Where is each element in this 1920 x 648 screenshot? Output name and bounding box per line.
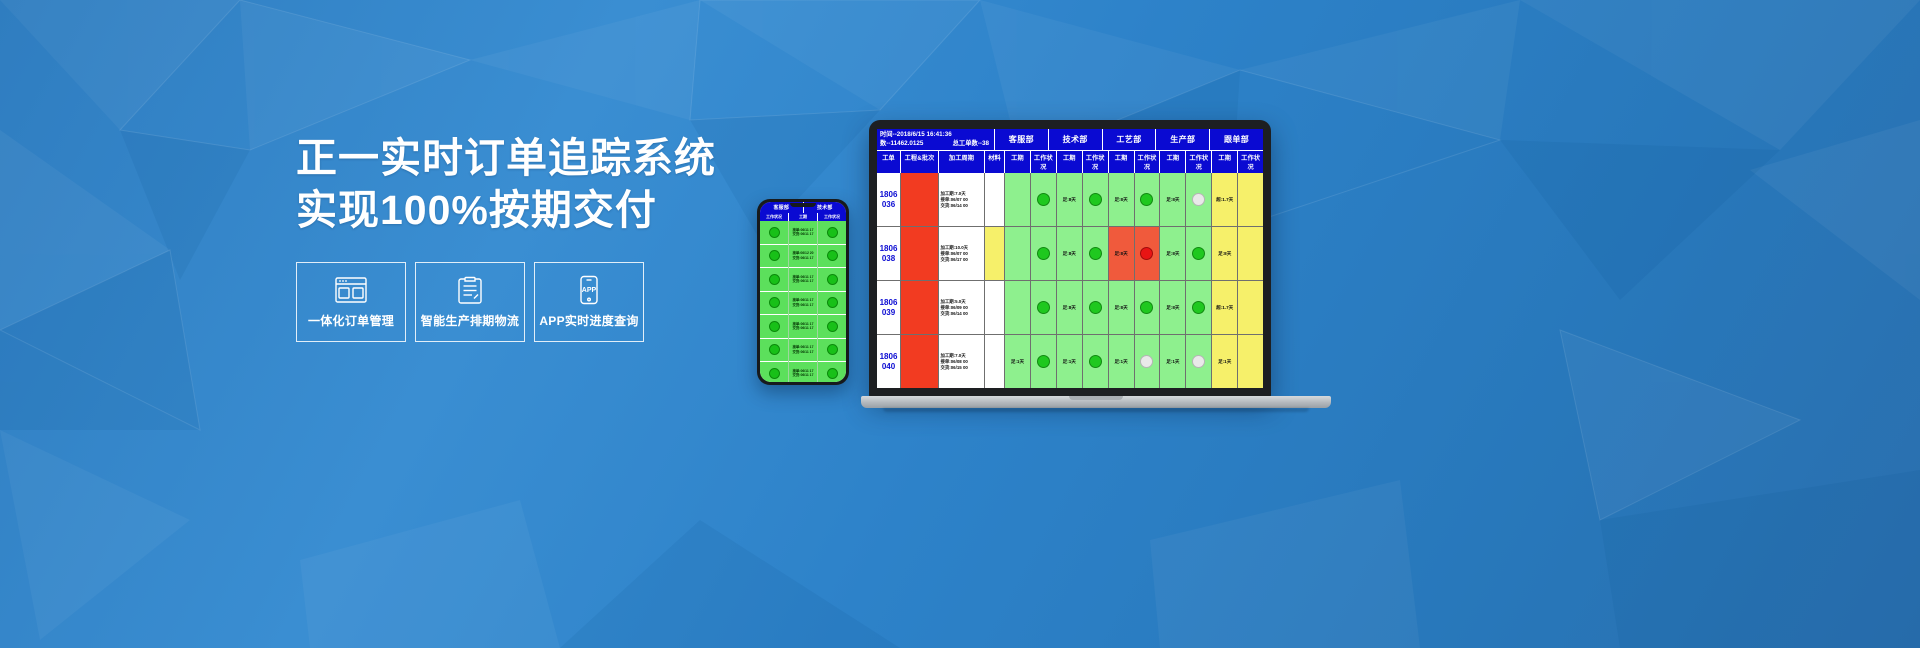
duration-cell[interactable]: 足:8天	[1212, 227, 1238, 280]
phone-cell-line: 交货:06/11 17	[793, 279, 814, 284]
work-status-cell[interactable]	[1186, 173, 1212, 226]
status-dot-green	[1037, 301, 1050, 314]
dashboard-header: 时间--2018/6/15 16:41:36 数--11462.0125 总工单…	[877, 129, 1263, 151]
column-header[interactable]: 工期	[1160, 151, 1186, 173]
headline-line-2: 实现100%按期交付	[296, 184, 756, 236]
headline-line-1: 正一实时订单追踪系统	[296, 132, 756, 184]
status-dot-green	[769, 274, 780, 285]
status-dot-green	[827, 250, 838, 261]
cycle-line: 交货:06/17 00	[941, 257, 968, 263]
column-header[interactable]: 加工周期	[939, 151, 985, 173]
duration-cell[interactable]: 足:8天	[1057, 173, 1083, 226]
phone-cell-line: 交货:06/11 17	[793, 256, 814, 261]
work-order-line: 040	[882, 362, 895, 372]
phone-screen: 客服部 技术部 工作状况 工期 工作状况 接单:06/11 17交货:06/11…	[760, 202, 846, 382]
status-dot-green	[827, 321, 838, 332]
cycle-line: 交货:06/15 00	[941, 365, 968, 371]
phone-cell-status[interactable]	[818, 268, 846, 292]
processing-cycle-cell[interactable]: 加工期:7.0天接单:06/08 00交货:06/15 00	[939, 335, 985, 388]
column-header[interactable]: 工期	[1109, 151, 1135, 173]
status-dot-green	[1089, 301, 1102, 314]
department-header[interactable]: 技术部	[1049, 129, 1103, 150]
duration-cell[interactable]: 足:8天	[1160, 173, 1186, 226]
processing-cycle-cell[interactable]: 加工期:7.0天接单:06/07 00交货:06/14 00	[939, 173, 985, 226]
column-header[interactable]: 材料	[985, 151, 1005, 173]
duration-cell[interactable]	[1005, 227, 1031, 280]
work-status-cell[interactable]	[1238, 335, 1263, 388]
smartphone-mockup: 客服部 技术部 工作状况 工期 工作状况 接单:06/11 17交货:06/11…	[757, 199, 849, 385]
duration-cell[interactable]: 足:8天	[1057, 281, 1083, 334]
work-order-cell[interactable]: 1806038	[877, 227, 901, 280]
project-batch-cell[interactable]	[901, 227, 939, 280]
phone-status-column-2[interactable]	[818, 221, 846, 382]
feature-card-app-tracking[interactable]: APP APP实时进度查询	[534, 262, 644, 342]
order-table-body[interactable]: 1806036加工期:7.0天接单:06/07 00交货:06/14 00足:8…	[877, 173, 1263, 388]
phone-duration-column[interactable]: 接单:06/11 17交货:06/11 17接单:06/12 20交货:06/1…	[789, 221, 818, 382]
phone-cell-status[interactable]	[818, 315, 846, 339]
phone-cell-status[interactable]	[760, 268, 788, 292]
status-dot-grey	[1192, 355, 1205, 368]
phone-cell-status[interactable]	[760, 362, 788, 382]
work-order-cell[interactable]: 1806039	[877, 281, 901, 334]
work-order-cell[interactable]: 1806040	[877, 335, 901, 388]
work-status-cell[interactable]	[1031, 173, 1057, 226]
material-cell[interactable]	[985, 335, 1005, 388]
project-batch-cell[interactable]	[901, 173, 939, 226]
material-cell[interactable]	[985, 173, 1005, 226]
phone-cell-status[interactable]	[760, 339, 788, 363]
status-dot-green	[769, 321, 780, 332]
phone-cell-status[interactable]	[760, 245, 788, 269]
status-dot-green	[1089, 247, 1102, 260]
status-dot-grey	[1192, 193, 1205, 206]
feature-label: 智能生产排期物流	[421, 312, 519, 329]
dashboard-meta: 时间--2018/6/15 16:41:36 数--11462.0125 总工单…	[877, 129, 995, 150]
column-header[interactable]: 工作状况	[1238, 151, 1263, 173]
status-dot-green	[1037, 247, 1050, 260]
duration-cell[interactable]: 足:1天	[1109, 335, 1135, 388]
status-dot-green	[827, 344, 838, 355]
status-dot-green	[1192, 301, 1205, 314]
feature-label: 一体化订单管理	[308, 312, 394, 329]
phone-column-header: 工期	[789, 213, 818, 221]
processing-cycle-cell[interactable]: 加工期:10.0天接单:06/07 00交货:06/17 00	[939, 227, 985, 280]
status-dot-green	[769, 297, 780, 308]
work-order-line: 1806	[880, 352, 898, 362]
status-dot-green	[827, 297, 838, 308]
column-header-row: 工单工程&批次加工周期材料工期工作状况工期工作状况工期工作状况工期工作状况工期工…	[877, 151, 1263, 173]
column-header[interactable]: 工作状况	[1135, 151, 1161, 173]
column-header[interactable]: 工期	[1057, 151, 1083, 173]
phone-grid[interactable]: 接单:06/11 17交货:06/11 17接单:06/12 20交货:06/1…	[760, 221, 846, 382]
material-cell[interactable]	[985, 281, 1005, 334]
work-status-cell[interactable]	[1031, 281, 1057, 334]
mobile-app-icon: APP	[572, 275, 606, 305]
column-header[interactable]: 工程&批次	[901, 151, 939, 173]
work-status-cell[interactable]	[1238, 227, 1263, 280]
duration-cell[interactable]: 足:8天	[1109, 281, 1135, 334]
status-dot-green	[1192, 247, 1205, 260]
feature-card-production-scheduling[interactable]: 智能生产排期物流	[415, 262, 525, 342]
work-status-cell[interactable]	[1083, 281, 1109, 334]
phone-cell-status[interactable]	[818, 292, 846, 316]
laptop-base	[861, 396, 1331, 408]
table-row[interactable]: 1806036加工期:7.0天接单:06/07 00交货:06/14 00足:8…	[877, 173, 1263, 227]
department-header[interactable]: 工艺部	[1103, 129, 1157, 150]
work-status-cell[interactable]	[1031, 335, 1057, 388]
work-status-cell[interactable]	[1031, 227, 1057, 280]
phone-cell-status[interactable]	[818, 362, 846, 382]
column-header[interactable]: 工期	[1005, 151, 1031, 173]
work-status-cell[interactable]	[1083, 227, 1109, 280]
phone-column-header: 工作状况	[818, 213, 846, 221]
duration-cell[interactable]: 足:8天	[1109, 227, 1135, 280]
work-status-cell[interactable]	[1135, 281, 1161, 334]
phone-cell-text[interactable]: 接单:06/11 17交货:06/11 17	[789, 292, 817, 316]
dashboard-time: 时间--2018/6/15 16:41:36	[880, 131, 991, 140]
work-order-line: 036	[882, 200, 895, 210]
work-status-cell[interactable]	[1135, 227, 1161, 280]
work-order-line: 039	[882, 308, 895, 318]
phone-cell-line: 交货:06/11 17	[793, 373, 814, 378]
phone-column-header: 工作状况	[760, 213, 789, 221]
department-header[interactable]: 客服部	[995, 129, 1049, 150]
duration-cell[interactable]: 足:1天	[1005, 335, 1031, 388]
feature-label: APP实时进度查询	[539, 312, 638, 329]
duration-cell[interactable]	[1005, 281, 1031, 334]
phone-cell-status[interactable]	[760, 221, 788, 245]
status-dot-green	[827, 274, 838, 285]
duration-cell[interactable]: 足:8天	[1109, 173, 1135, 226]
dashboard-total: 总工单数--38	[953, 140, 989, 149]
phone-cell-text[interactable]: 接单:06/12 20交货:06/11 17	[789, 245, 817, 269]
phone-cell-line: 交货:06/11 17	[793, 326, 814, 331]
status-dot-red	[1140, 247, 1153, 260]
duration-cell[interactable]: 足:1天	[1160, 335, 1186, 388]
phone-notch	[790, 203, 816, 207]
project-batch-cell[interactable]	[901, 281, 939, 334]
work-order-line: 1806	[880, 190, 898, 200]
phone-cell-text[interactable]: 接单:06/11 17交货:06/11 17	[789, 268, 817, 292]
svg-text:APP: APP	[582, 287, 597, 294]
work-status-cell[interactable]	[1186, 335, 1212, 388]
status-dot-green	[1140, 193, 1153, 206]
cycle-line: 交货:06/14 00	[941, 311, 968, 317]
duration-cell[interactable]: 足:8天	[1057, 227, 1083, 280]
hero-copy: 正一实时订单追踪系统 实现100%按期交付	[296, 132, 756, 236]
status-dot-green	[827, 227, 838, 238]
status-dot-green	[769, 227, 780, 238]
work-status-cell[interactable]	[1135, 173, 1161, 226]
phone-cell-status[interactable]	[818, 221, 846, 245]
duration-cell[interactable]: 超:1.7天	[1212, 281, 1238, 334]
work-status-cell[interactable]	[1186, 227, 1212, 280]
table-row[interactable]: 1806038加工期:10.0天接单:06/07 00交货:06/17 00足:…	[877, 227, 1263, 281]
phone-cell-text[interactable]: 接单:06/11 17交货:06/11 17	[789, 315, 817, 339]
window-layout-icon	[334, 275, 368, 305]
phone-cell-status[interactable]	[818, 245, 846, 269]
phone-cell-line: 交货:06/11 17	[793, 303, 814, 308]
phone-cell-text[interactable]: 接单:06/11 17交货:06/11 17	[789, 362, 817, 382]
clipboard-checklist-icon	[453, 275, 487, 305]
status-dot-green	[1037, 355, 1050, 368]
column-header[interactable]: 工作状况	[1083, 151, 1109, 173]
status-dot-green	[769, 344, 780, 355]
department-header-row: 客服部技术部工艺部生产部跟单部	[995, 129, 1263, 150]
status-dot-green	[1089, 355, 1102, 368]
work-status-cell[interactable]	[1083, 173, 1109, 226]
work-status-cell[interactable]	[1238, 173, 1263, 226]
work-order-cell[interactable]: 1806036	[877, 173, 901, 226]
laptop-shadow	[883, 408, 1309, 412]
phone-cell-text[interactable]: 接单:06/11 17交货:06/11 17	[789, 339, 817, 363]
phone-cell-text[interactable]: 接单:06/11 17交货:06/11 17	[789, 221, 817, 245]
work-order-line: 038	[882, 254, 895, 264]
phone-cell-status[interactable]	[818, 339, 846, 363]
duration-cell[interactable]: 足:1天	[1057, 335, 1083, 388]
feature-list: 一体化订单管理 智能生产排期物流 APP APP实时进度查询	[296, 262, 644, 342]
table-row[interactable]: 1806039加工期:5.0天接单:06/09 00交货:06/14 00足:8…	[877, 281, 1263, 335]
cycle-line: 交货:06/14 00	[941, 203, 968, 209]
column-header[interactable]: 工期	[1212, 151, 1238, 173]
department-header[interactable]: 跟单部	[1210, 129, 1263, 150]
table-row[interactable]: 1806040加工期:7.0天接单:06/08 00交货:06/15 00足:1…	[877, 335, 1263, 388]
work-order-line: 1806	[880, 244, 898, 254]
material-cell[interactable]	[985, 227, 1005, 280]
feature-card-order-management[interactable]: 一体化订单管理	[296, 262, 406, 342]
phone-column-header-row: 工作状况 工期 工作状况	[760, 213, 846, 221]
phone-cell-line: 交货:06/11 17	[793, 232, 814, 237]
phone-cell-status[interactable]	[760, 292, 788, 316]
work-status-cell[interactable]	[1238, 281, 1263, 334]
duration-cell[interactable]: 足:8天	[1160, 281, 1186, 334]
status-dot-green	[769, 250, 780, 261]
phone-cell-status[interactable]	[760, 315, 788, 339]
duration-cell[interactable]: 超:1.7天	[1212, 173, 1238, 226]
dashboard-count: 数--11462.0125	[880, 140, 923, 149]
work-status-cell[interactable]	[1186, 281, 1212, 334]
phone-status-column[interactable]	[760, 221, 789, 382]
project-batch-cell[interactable]	[901, 335, 939, 388]
status-dot-green	[1140, 301, 1153, 314]
column-header[interactable]: 工作状况	[1031, 151, 1057, 173]
status-dot-green	[769, 368, 780, 379]
duration-cell[interactable]	[1005, 173, 1031, 226]
work-order-line: 1806	[880, 298, 898, 308]
processing-cycle-cell[interactable]: 加工期:5.0天接单:06/09 00交货:06/14 00	[939, 281, 985, 334]
status-dot-green	[827, 368, 838, 379]
column-header[interactable]: 工作状况	[1186, 151, 1212, 173]
status-dot-green	[1089, 193, 1102, 206]
laptop-lid: 时间--2018/6/15 16:41:36 数--11462.0125 总工单…	[869, 120, 1271, 398]
column-header[interactable]: 工单	[877, 151, 901, 173]
laptop-base-notch	[1069, 396, 1123, 400]
work-status-cell[interactable]	[1135, 335, 1161, 388]
department-header[interactable]: 生产部	[1156, 129, 1210, 150]
duration-cell[interactable]: 足:8天	[1160, 227, 1186, 280]
dashboard-screen[interactable]: 时间--2018/6/15 16:41:36 数--11462.0125 总工单…	[877, 129, 1263, 388]
work-status-cell[interactable]	[1083, 335, 1109, 388]
phone-cell-line: 交货:06/11 17	[793, 350, 814, 355]
laptop-mockup: 时间--2018/6/15 16:41:36 数--11462.0125 总工单…	[861, 120, 1331, 420]
duration-cell[interactable]: 足:1天	[1212, 335, 1238, 388]
status-dot-grey	[1140, 355, 1153, 368]
status-dot-green	[1037, 193, 1050, 206]
